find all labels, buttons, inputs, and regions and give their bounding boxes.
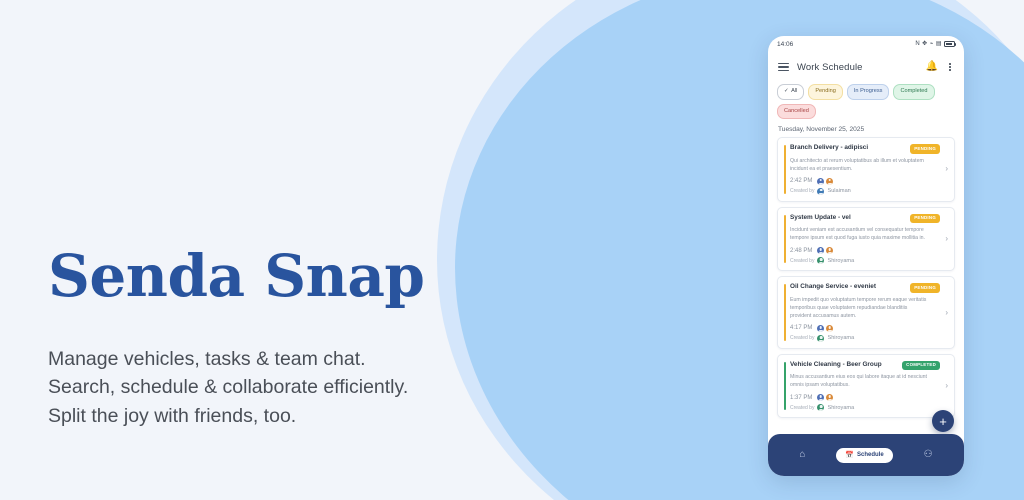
avatar bbox=[826, 247, 833, 254]
overflow-menu-icon[interactable] bbox=[946, 63, 954, 72]
filter-chip-all[interactable]: ✓ All bbox=[777, 84, 804, 100]
check-icon: ✓ bbox=[784, 89, 789, 95]
chevron-right-icon[interactable]: › bbox=[945, 309, 948, 317]
battery-icon bbox=[944, 41, 955, 47]
chevron-right-icon[interactable]: › bbox=[945, 235, 948, 243]
avatar bbox=[826, 394, 833, 401]
created-by-name: Shiroyama bbox=[827, 335, 854, 341]
app-promo-banner: Senda Snap Manage vehicles, tasks & team… bbox=[0, 0, 1024, 500]
avatar bbox=[817, 257, 824, 264]
task-time: 2:48 PM bbox=[790, 248, 812, 254]
avatar bbox=[817, 178, 824, 185]
assignee-avatars bbox=[817, 178, 833, 185]
task-time: 1:37 PM bbox=[790, 395, 812, 401]
filter-chip-completed[interactable]: Completed bbox=[893, 84, 934, 100]
subtitle-line-2: Search, schedule & collaborate efficient… bbox=[48, 373, 468, 402]
filter-chip-in-progress[interactable]: In Progress bbox=[847, 84, 890, 100]
task-time: 4:17 PM bbox=[790, 325, 812, 331]
created-by-name: Shiroyama bbox=[827, 258, 854, 264]
filter-chip-label: Completed bbox=[900, 89, 927, 95]
sim-icon: ▤ bbox=[936, 41, 942, 47]
task-description: Minus accusantium eius eos qui labore it… bbox=[790, 373, 940, 389]
filter-chip-row: ✓ All Pending In Progress Completed Canc… bbox=[768, 82, 964, 119]
date-header: Tuesday, November 25, 2025 bbox=[768, 119, 964, 137]
task-card[interactable]: Branch Delivery - adipisci PENDING Qui a… bbox=[777, 137, 955, 202]
assignee-avatars bbox=[817, 325, 833, 332]
chevron-right-icon[interactable]: › bbox=[945, 165, 948, 173]
status-bar: 14:06 N ✥ ⌁ ▤ bbox=[768, 36, 964, 52]
nav-profile-icon[interactable]: ⚇ bbox=[924, 450, 933, 460]
task-description: Eum impedit quo voluptatum tempore rerum… bbox=[790, 296, 940, 320]
assignee-avatars bbox=[817, 394, 833, 401]
status-badge: PENDING bbox=[910, 144, 940, 153]
assignee-avatars bbox=[817, 247, 833, 254]
subtitle-line-3: Split the joy with friends, too. bbox=[48, 402, 468, 431]
task-title: Vehicle Cleaning - Beer Group bbox=[790, 361, 898, 369]
wifi-icon: ⌁ bbox=[930, 41, 934, 47]
avatar bbox=[826, 178, 833, 185]
app-bar: Work Schedule 🔔 bbox=[768, 52, 964, 82]
app-title: Work Schedule bbox=[797, 62, 918, 73]
avatar bbox=[817, 247, 824, 254]
status-badge: PENDING bbox=[910, 214, 940, 223]
task-title: Oil Change Service - eveniet bbox=[790, 283, 906, 291]
page-title: Senda Snap bbox=[48, 246, 468, 307]
created-by-label: Created by bbox=[790, 335, 814, 341]
task-title: Branch Delivery - adipisci bbox=[790, 144, 906, 152]
network-icon: N bbox=[915, 41, 919, 47]
task-card[interactable]: System Update - vel PENDING Incidunt ven… bbox=[777, 207, 955, 272]
created-by-label: Created by bbox=[790, 405, 814, 411]
subtitle-line-1: Manage vehicles, tasks & team chat. bbox=[48, 345, 468, 374]
location-icon: ✥ bbox=[922, 41, 927, 47]
created-by-label: Created by bbox=[790, 188, 814, 194]
task-description: Qui architecto at rerum voluptatibus ab … bbox=[790, 157, 940, 173]
filter-chip-cancelled[interactable]: Cancelled bbox=[777, 104, 816, 120]
task-description: Incidunt veniam est accusantium vel cons… bbox=[790, 226, 940, 242]
nav-item-label: Schedule bbox=[857, 452, 884, 458]
avatar bbox=[826, 325, 833, 332]
marketing-copy: Senda Snap Manage vehicles, tasks & team… bbox=[48, 246, 468, 430]
status-bar-icons: N ✥ ⌁ ▤ bbox=[915, 41, 955, 47]
status-badge: PENDING bbox=[910, 283, 940, 292]
notification-bell-icon[interactable]: 🔔 bbox=[926, 62, 938, 72]
avatar bbox=[817, 335, 824, 342]
filter-chip-label: Cancelled bbox=[784, 109, 809, 115]
hamburger-icon[interactable] bbox=[778, 63, 789, 71]
task-title: System Update - vel bbox=[790, 214, 906, 222]
marketing-subtitle: Manage vehicles, tasks & team chat. Sear… bbox=[48, 345, 468, 431]
add-task-fab[interactable]: + bbox=[932, 410, 954, 432]
avatar bbox=[817, 394, 824, 401]
avatar bbox=[817, 325, 824, 332]
filter-chip-pending[interactable]: Pending bbox=[808, 84, 843, 100]
status-accent-bar bbox=[784, 284, 786, 341]
created-by-label: Created by bbox=[790, 258, 814, 264]
status-bar-clock: 14:06 bbox=[777, 41, 793, 48]
status-accent-bar bbox=[784, 145, 786, 194]
chevron-right-icon[interactable]: › bbox=[945, 382, 948, 390]
filter-chip-label: In Progress bbox=[854, 89, 883, 95]
calendar-icon: 📅 bbox=[845, 452, 854, 459]
filter-chip-label: All bbox=[791, 89, 797, 95]
status-accent-bar bbox=[784, 362, 786, 411]
task-time: 2:42 PM bbox=[790, 178, 812, 184]
task-list: Branch Delivery - adipisci PENDING Qui a… bbox=[768, 137, 964, 418]
task-card[interactable]: Vehicle Cleaning - Beer Group COMPLETED … bbox=[777, 354, 955, 419]
status-accent-bar bbox=[784, 215, 786, 264]
avatar bbox=[817, 188, 824, 195]
phone-mockup: 14:06 N ✥ ⌁ ▤ Work Schedule 🔔 ✓ All Pend… bbox=[768, 36, 964, 476]
nav-home-icon[interactable]: ⌂ bbox=[799, 450, 805, 460]
filter-chip-label: Pending bbox=[815, 89, 836, 95]
created-by-name: Sulaiman bbox=[827, 188, 850, 194]
bottom-navigation: ⌂ 📅 Schedule ⚇ bbox=[768, 434, 964, 476]
status-badge: COMPLETED bbox=[902, 361, 940, 370]
task-card[interactable]: Oil Change Service - eveniet PENDING Eum… bbox=[777, 276, 955, 349]
nav-item-schedule[interactable]: 📅 Schedule bbox=[836, 448, 892, 463]
avatar bbox=[817, 404, 824, 411]
created-by-name: Shiroyama bbox=[827, 405, 854, 411]
